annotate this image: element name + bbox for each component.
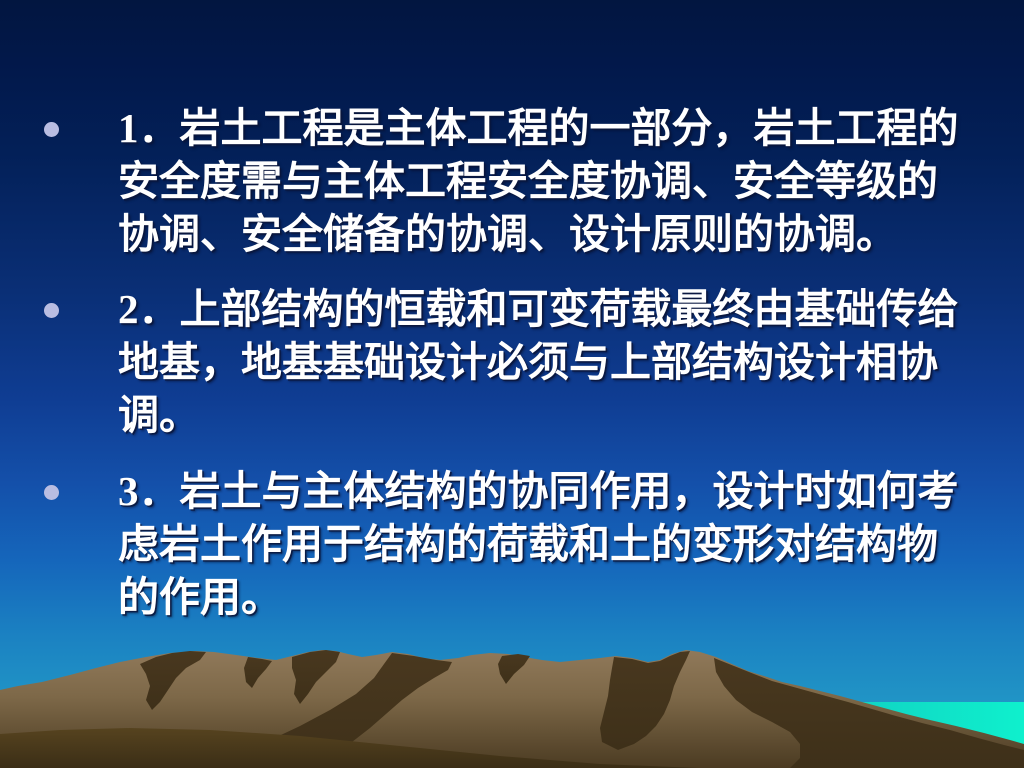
bullet-dot-icon <box>44 303 59 318</box>
bullet-list: 1．岩土工程是主体工程的一部分，岩土工程的安全度需与主体工程安全度协调、安全等级… <box>0 102 1024 624</box>
bullet-2-text: 2．上部结构的恒载和可变荷载最终由基础传给地基，地基基础设计必须与上部结构设计相… <box>118 283 976 442</box>
mountain-range-graphic <box>0 638 1024 768</box>
bullet-dot-icon <box>44 485 59 500</box>
slide-body-text: 1．岩土工程是主体工程的一部分，岩土工程的安全度需与主体工程安全度协调、安全等级… <box>0 0 1024 630</box>
bullet-dot-icon <box>44 122 59 137</box>
list-item-bullet-2[interactable]: 2．上部结构的恒载和可变荷载最终由基础传给地基，地基基础设计必须与上部结构设计相… <box>0 283 1024 442</box>
bullet-3-text: 3．岩土与主体结构的协同作用，设计时如何考虑岩土作用于结构的荷载和土的变形对结构… <box>118 465 976 624</box>
list-item-bullet-1[interactable]: 1．岩土工程是主体工程的一部分，岩土工程的安全度需与主体工程安全度协调、安全等级… <box>0 102 1024 261</box>
bullet-1-text: 1．岩土工程是主体工程的一部分，岩土工程的安全度需与主体工程安全度协调、安全等级… <box>118 102 976 261</box>
list-item-bullet-3[interactable]: 3．岩土与主体结构的协同作用，设计时如何考虑岩土作用于结构的荷载和土的变形对结构… <box>0 465 1024 624</box>
presentation-slide: 1．岩土工程是主体工程的一部分，岩土工程的安全度需与主体工程安全度协调、安全等级… <box>0 0 1024 768</box>
